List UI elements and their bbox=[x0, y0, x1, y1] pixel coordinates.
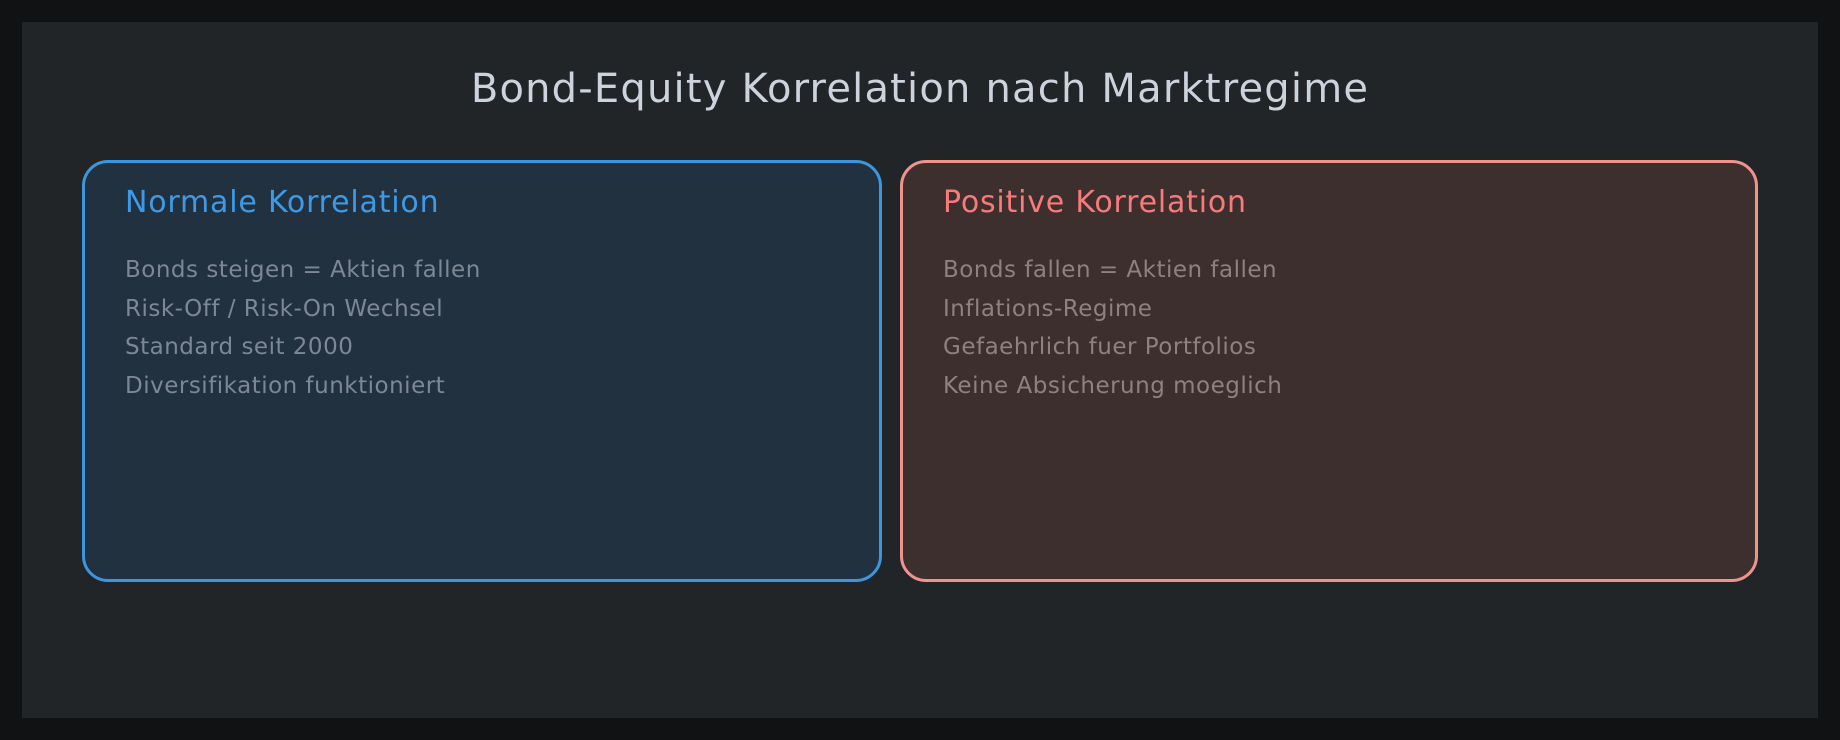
list-item: Standard seit 2000 bbox=[125, 328, 853, 367]
list-item: Bonds fallen = Aktien fallen bbox=[943, 251, 1729, 290]
card-positive-korrelation: Positive Korrelation Bonds fallen = Akti… bbox=[900, 160, 1758, 582]
card-positive-title: Positive Korrelation bbox=[943, 185, 1247, 220]
list-item: Diversifikation funktioniert bbox=[125, 367, 853, 406]
card-normale-korrelation: Normale Korrelation Bonds steigen = Akti… bbox=[82, 160, 882, 582]
slide-canvas: Bond-Equity Korrelation nach Marktregime… bbox=[22, 22, 1818, 718]
card-normale-title: Normale Korrelation bbox=[125, 185, 439, 220]
list-item: Inflations-Regime bbox=[943, 290, 1729, 329]
list-item: Keine Absicherung moeglich bbox=[943, 367, 1729, 406]
list-item: Bonds steigen = Aktien fallen bbox=[125, 251, 853, 290]
list-item: Gefaehrlich fuer Portfolios bbox=[943, 328, 1729, 367]
card-positive-list: Bonds fallen = Aktien fallen Inflations-… bbox=[943, 251, 1729, 405]
page-title: Bond-Equity Korrelation nach Marktregime bbox=[22, 66, 1818, 112]
list-item: Risk-Off / Risk-On Wechsel bbox=[125, 290, 853, 329]
card-normale-list: Bonds steigen = Aktien fallen Risk-Off /… bbox=[125, 251, 853, 405]
